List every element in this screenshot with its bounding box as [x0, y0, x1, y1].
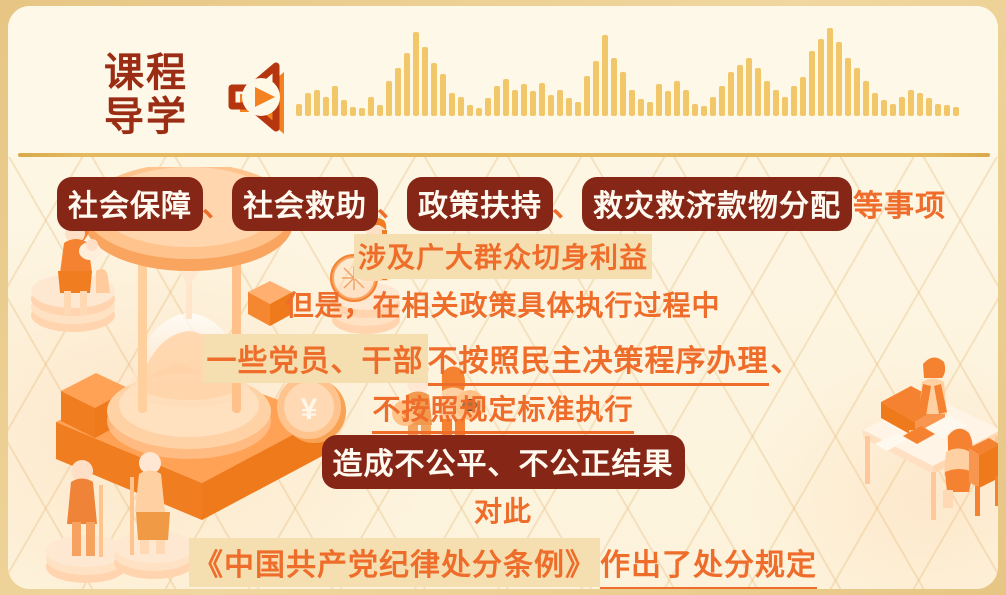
line8-underline: 作出了处分规定	[600, 540, 817, 589]
waveform-bar	[827, 28, 833, 116]
waveform-bar	[566, 98, 572, 116]
waveform-bar	[458, 97, 464, 116]
content-line-6: 造成不公平、不公正结果	[8, 437, 998, 487]
waveform-bar	[665, 91, 671, 116]
course-guide-logo: 课程 导学	[104, 50, 196, 138]
waveform-bar	[305, 93, 311, 116]
waveform-bar	[548, 95, 554, 116]
waveform-bar	[584, 76, 590, 116]
content-lines: 社会保障、社会救助、政策扶持、救灾救济款物分配等事项 涉及广大群众切身利益 但是…	[8, 157, 998, 589]
chip-unfair-result: 造成不公平、不公正结果	[324, 437, 683, 487]
waveform-bar	[386, 81, 392, 116]
line4-highlight: 一些党员、干部	[203, 334, 428, 383]
waveform-bar	[404, 53, 410, 116]
waveform-bar	[539, 83, 545, 116]
waveform-bar	[296, 104, 302, 116]
waveform-bar	[611, 58, 617, 116]
waveform-bar	[557, 90, 563, 116]
sep-2: 、	[377, 190, 408, 223]
line3-text: 但是，在相关政策具体执行过程中	[285, 291, 720, 322]
waveform-bar	[737, 65, 743, 116]
waveform-bar	[413, 32, 419, 116]
content-line-5: 不按照规定标准执行	[8, 388, 998, 434]
waveform-bar	[854, 68, 860, 116]
poster-card: 课程 导学	[8, 6, 998, 589]
waveform-bar	[512, 90, 518, 116]
waveform-bar	[791, 86, 797, 116]
waveform-bar	[800, 77, 806, 116]
sep-3: 、	[552, 190, 583, 223]
content-line-8: 《中国共产党纪律处分条例》作出了处分规定	[8, 538, 998, 589]
line1-tail: 等事项	[851, 181, 948, 225]
waveform-bar	[863, 81, 869, 116]
waveform-bar	[710, 97, 716, 116]
waveform-bar	[602, 35, 608, 116]
waveform-bar	[890, 104, 896, 116]
waveform-bar	[719, 86, 725, 116]
waveform-bar	[818, 39, 824, 116]
waveform-bar	[575, 102, 581, 116]
content-line-4: 一些党员、干部不按照民主决策程序办理、	[8, 334, 998, 386]
line2-highlight: 涉及广大群众切身利益	[354, 234, 652, 279]
chip-jiuzai-jiuji: 救灾救济款物分配	[584, 179, 850, 229]
waveform-bar	[377, 105, 383, 116]
content-line-1: 社会保障、社会救助、政策扶持、救灾救济款物分配等事项	[8, 179, 998, 229]
waveform-bar	[773, 90, 779, 116]
waveform-bar	[314, 90, 320, 116]
waveform-bar	[953, 107, 959, 116]
content-line-7: 对此	[8, 490, 998, 530]
waveform-bar	[881, 100, 887, 116]
waveform-bar	[431, 63, 437, 116]
waveform-bar	[944, 105, 950, 116]
waveform-bar	[467, 105, 473, 116]
audio-waveform	[296, 24, 946, 116]
waveform-bar	[422, 47, 428, 116]
waveform-bar	[647, 102, 653, 116]
waveform-bar	[935, 104, 941, 116]
waveform-bar	[485, 98, 491, 116]
waveform-bar	[683, 90, 689, 116]
poster-frame: 课程 导学	[0, 0, 1006, 595]
waveform-bar	[809, 51, 815, 116]
waveform-bar	[593, 61, 599, 116]
waveform-bar	[899, 97, 905, 116]
waveform-bar	[701, 106, 707, 116]
content-line-3: 但是，在相关政策具体执行过程中	[8, 284, 998, 324]
waveform-bar	[917, 93, 923, 116]
waveform-bar	[782, 97, 788, 116]
waveform-bar	[629, 90, 635, 116]
line4-underline: 不按照民主决策程序办理	[428, 336, 769, 386]
waveform-bar	[350, 107, 356, 116]
logo-text-bottom: 导学	[104, 94, 188, 138]
waveform-bar	[368, 97, 374, 116]
line4-tail: 、	[769, 336, 804, 380]
waveform-bar	[638, 99, 644, 116]
line5-underline: 不按照规定标准执行	[372, 388, 633, 434]
waveform-bar	[476, 108, 482, 116]
line7-text: 对此	[474, 497, 532, 528]
waveform-bar	[620, 72, 626, 116]
chip-zhengce-fuchi: 政策扶持	[409, 179, 551, 229]
waveform-bar	[494, 86, 500, 116]
waveform-bar	[746, 58, 752, 116]
waveform-bar	[332, 86, 338, 116]
waveform-bar	[449, 93, 455, 116]
waveform-bar	[764, 81, 770, 116]
waveform-bar	[503, 79, 509, 116]
header-bar: 课程 导学	[8, 6, 998, 154]
waveform-bar	[440, 74, 446, 116]
waveform-bar	[530, 91, 536, 116]
waveform-bar	[341, 100, 347, 116]
waveform-bar	[845, 58, 851, 116]
waveform-bar	[728, 72, 734, 116]
sep-1: 、	[202, 190, 233, 223]
waveform-bar	[323, 97, 329, 116]
chip-shehui-jiuzhu: 社会救助	[234, 179, 376, 229]
waveform-bar	[359, 108, 365, 116]
waveform-bar	[926, 98, 932, 116]
waveform-bar	[674, 81, 680, 116]
waveform-bar	[836, 42, 842, 116]
line8-highlight: 《中国共产党纪律处分条例》	[189, 538, 600, 587]
waveform-bar	[395, 68, 401, 116]
waveform-bar	[692, 104, 698, 116]
speaker-play-icon[interactable]	[214, 58, 300, 142]
content-line-2: 涉及广大群众切身利益	[8, 234, 998, 279]
waveform-bar	[872, 93, 878, 116]
chip-shehui-baozhang: 社会保障	[59, 179, 201, 229]
waveform-bar	[755, 68, 761, 116]
logo-text-top: 课程	[104, 50, 188, 95]
waveform-bar	[656, 84, 662, 116]
waveform-bar	[521, 84, 527, 116]
waveform-bar	[908, 90, 914, 116]
